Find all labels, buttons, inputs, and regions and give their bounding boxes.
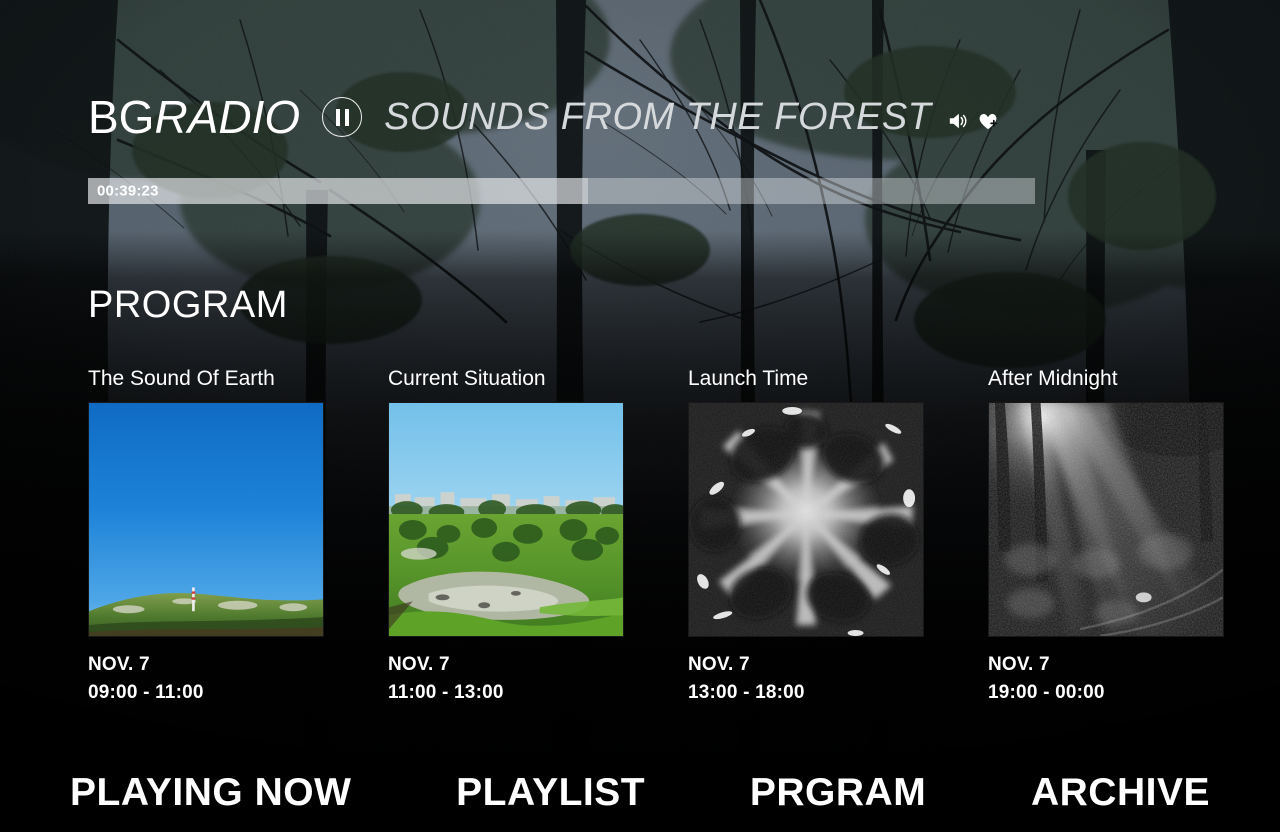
app-root: BGRADIO SOUNDS FROM THE FOREST bbox=[0, 0, 1280, 832]
program-card-title: Launch Time bbox=[688, 368, 924, 389]
program-card-date: NOV. 7 bbox=[988, 651, 1224, 679]
program-card-thumbnail[interactable] bbox=[388, 402, 624, 637]
nav-item-archive[interactable]: ARCHIVE bbox=[1031, 773, 1210, 812]
program-card-meta: NOV. 7 19:00 - 00:00 bbox=[988, 651, 1224, 706]
program-card-title: The Sound Of Earth bbox=[88, 368, 324, 389]
volume-icon[interactable] bbox=[947, 111, 969, 131]
progress-fill bbox=[88, 178, 588, 204]
program-card-meta: NOV. 7 09:00 - 11:00 bbox=[88, 651, 324, 706]
program-card-time: 11:00 - 13:00 bbox=[388, 679, 624, 707]
pause-bar-right bbox=[345, 109, 349, 126]
program-card-thumbnail[interactable] bbox=[88, 402, 324, 637]
program-card-list: The Sound Of Earth bbox=[88, 368, 1222, 706]
program-card-meta: NOV. 7 11:00 - 13:00 bbox=[388, 651, 624, 706]
pause-bar-left bbox=[336, 109, 340, 126]
header-icon-group bbox=[947, 103, 999, 131]
program-heading: PROGRAM bbox=[88, 286, 288, 324]
program-card[interactable]: The Sound Of Earth bbox=[88, 368, 324, 706]
program-card-meta: NOV. 7 13:00 - 18:00 bbox=[688, 651, 924, 706]
brand-bg-text: BG bbox=[88, 91, 154, 143]
playback-progress-bar[interactable]: 00:39:23 bbox=[88, 178, 1035, 204]
program-card-date: NOV. 7 bbox=[88, 651, 324, 679]
nav-item-playlist[interactable]: PLAYLIST bbox=[456, 773, 645, 812]
program-card-date: NOV. 7 bbox=[388, 651, 624, 679]
heart-plus-icon[interactable] bbox=[977, 111, 999, 131]
program-card-title: Current Situation bbox=[388, 368, 624, 389]
program-card-date: NOV. 7 bbox=[688, 651, 924, 679]
program-card-time: 13:00 - 18:00 bbox=[688, 679, 924, 707]
program-card-thumbnail[interactable] bbox=[988, 402, 1224, 637]
program-card[interactable]: Current Situation bbox=[388, 368, 624, 706]
pause-icon[interactable] bbox=[322, 97, 362, 137]
player-header: BGRADIO SOUNDS FROM THE FOREST bbox=[88, 88, 1088, 146]
elapsed-time: 00:39:23 bbox=[97, 183, 159, 200]
program-card-thumbnail[interactable] bbox=[688, 402, 924, 637]
now-playing-title: SOUNDS FROM THE FOREST bbox=[384, 98, 931, 136]
program-card[interactable]: Launch Time bbox=[688, 368, 924, 706]
bottom-navigation-inner: PLAYING NOW PLAYLIST PRGRAM ARCHIVE bbox=[0, 773, 1280, 812]
program-card[interactable]: After Midnight bbox=[988, 368, 1224, 706]
brand-radio-text: RADIO bbox=[154, 91, 300, 143]
program-card-time: 09:00 - 11:00 bbox=[88, 679, 324, 707]
program-card-time: 19:00 - 00:00 bbox=[988, 679, 1224, 707]
nav-item-program[interactable]: PRGRAM bbox=[750, 773, 926, 812]
nav-item-playing-now[interactable]: PLAYING NOW bbox=[70, 773, 351, 812]
bottom-navigation: PLAYING NOW PLAYLIST PRGRAM ARCHIVE bbox=[0, 752, 1280, 832]
program-card-title: After Midnight bbox=[988, 368, 1224, 389]
brand-logo[interactable]: BGRADIO bbox=[88, 94, 300, 140]
